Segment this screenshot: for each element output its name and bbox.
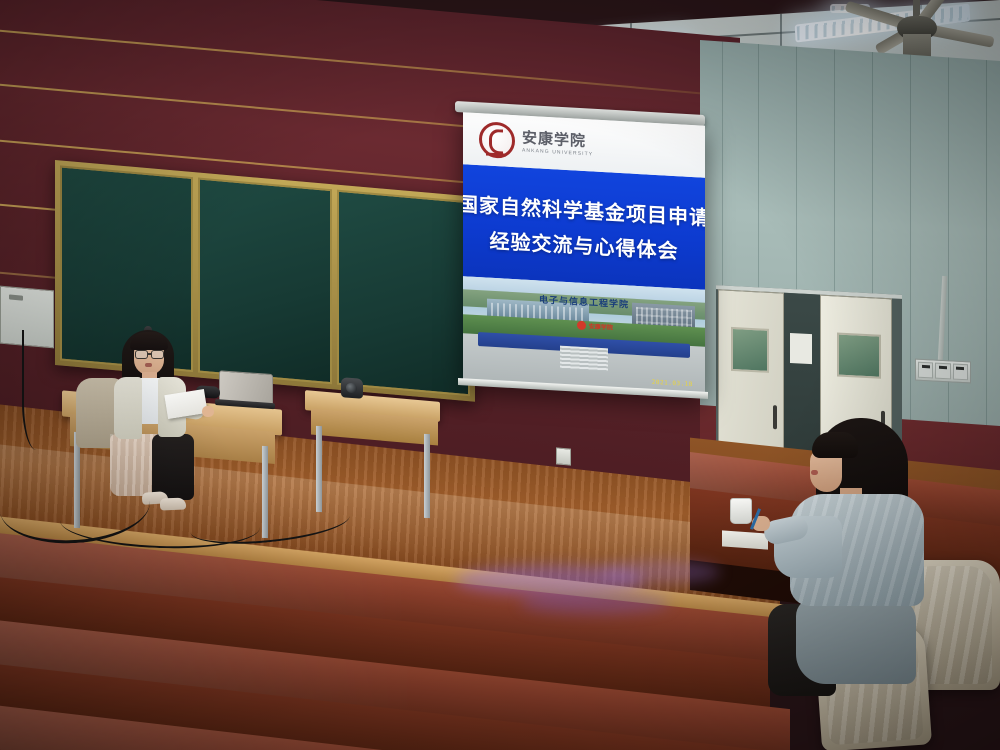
attendee-person: [768, 412, 998, 712]
slide-title-band: 国家自然科学基金项目申请 经验交流与心得体会: [463, 164, 705, 290]
laptop[interactable]: [215, 370, 271, 408]
university-logo-text: 安康学院 ANKANG UNIVERSITY: [522, 130, 593, 157]
presentation-slide: 安康学院 ANKANG UNIVERSITY 国家自然科学基金项目申请 经验交流…: [463, 112, 705, 396]
chalkboard-panel: [337, 190, 470, 397]
university-seal-icon: [479, 121, 515, 159]
university-name-cn: 安康学院: [522, 130, 593, 149]
floor-cable: [22, 330, 58, 450]
chalkboard-panel: [198, 178, 331, 385]
ptz-camera-icon[interactable]: [341, 377, 363, 399]
photo-seal-icon: [577, 321, 586, 331]
lecture-hall-photo: 安康学院 ANKANG UNIVERSITY 国家自然科学基金项目申请 经验交流…: [0, 0, 1000, 750]
light-switch-icon[interactable]: [556, 447, 571, 465]
door-notice-paper: [790, 333, 812, 364]
power-outlet-icon[interactable]: [915, 359, 971, 384]
photo-caption-red: 安康学院: [589, 321, 613, 331]
door-window: [837, 332, 881, 378]
paper-cup[interactable]: [730, 498, 752, 524]
projection-screen: 安康学院 ANKANG UNIVERSITY 国家自然科学基金项目申请 经验交流…: [463, 112, 705, 396]
notepad[interactable]: [722, 530, 768, 549]
door-window: [731, 327, 769, 373]
slide-title-line2: 经验交流与心得体会: [490, 225, 679, 265]
